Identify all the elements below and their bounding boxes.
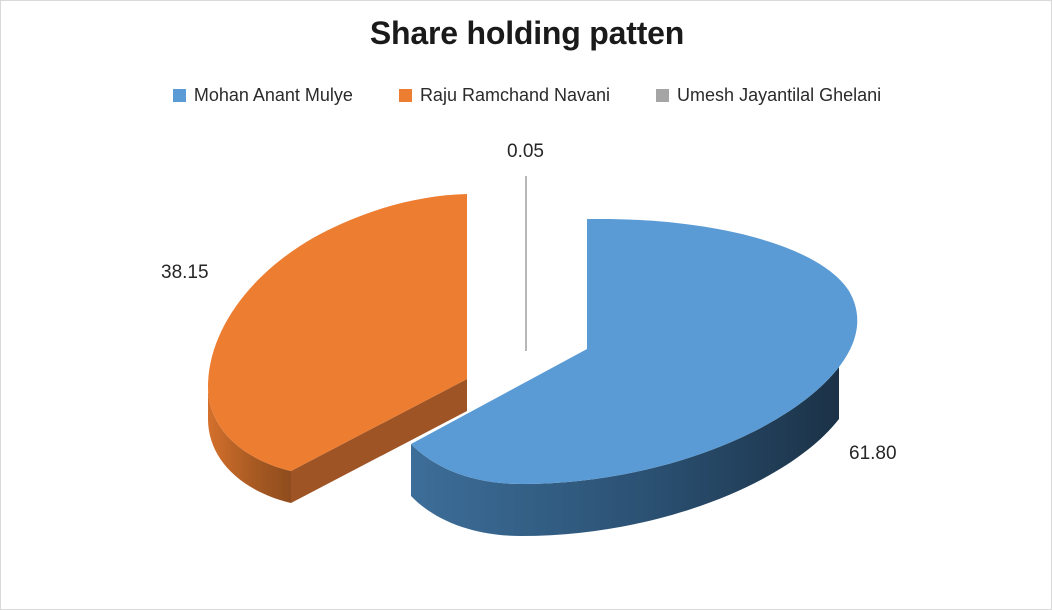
legend-item-raju-ramchand-navani[interactable]: Raju Ramchand Navani [399, 85, 610, 106]
pie-slice-mohan-anant-mulye[interactable] [411, 219, 857, 536]
pie-plot-area: 0.05 38.15 61.80 [1, 119, 1052, 609]
legend-label-umesh-jayantilal-ghelani: Umesh Jayantilal Ghelani [677, 85, 881, 106]
chart-legend: Mohan Anant Mulye Raju Ramchand Navani U… [1, 85, 1052, 106]
data-label-umesh-jayantilal-ghelani: 0.05 [507, 141, 544, 163]
legend-swatch-gray-icon [656, 89, 669, 102]
chart-container: Share holding patten Mohan Anant Mulye R… [0, 0, 1052, 610]
pie-chart-svg [1, 119, 1052, 609]
legend-swatch-orange-icon [399, 89, 412, 102]
data-label-mohan-anant-mulye: 61.80 [849, 443, 897, 465]
legend-label-mohan-anant-mulye: Mohan Anant Mulye [194, 85, 353, 106]
legend-item-mohan-anant-mulye[interactable]: Mohan Anant Mulye [173, 85, 353, 106]
legend-swatch-blue-icon [173, 89, 186, 102]
data-label-raju-ramchand-navani: 38.15 [161, 262, 209, 284]
legend-label-raju-ramchand-navani: Raju Ramchand Navani [420, 85, 610, 106]
legend-item-umesh-jayantilal-ghelani[interactable]: Umesh Jayantilal Ghelani [656, 85, 881, 106]
chart-title: Share holding patten [1, 15, 1052, 52]
